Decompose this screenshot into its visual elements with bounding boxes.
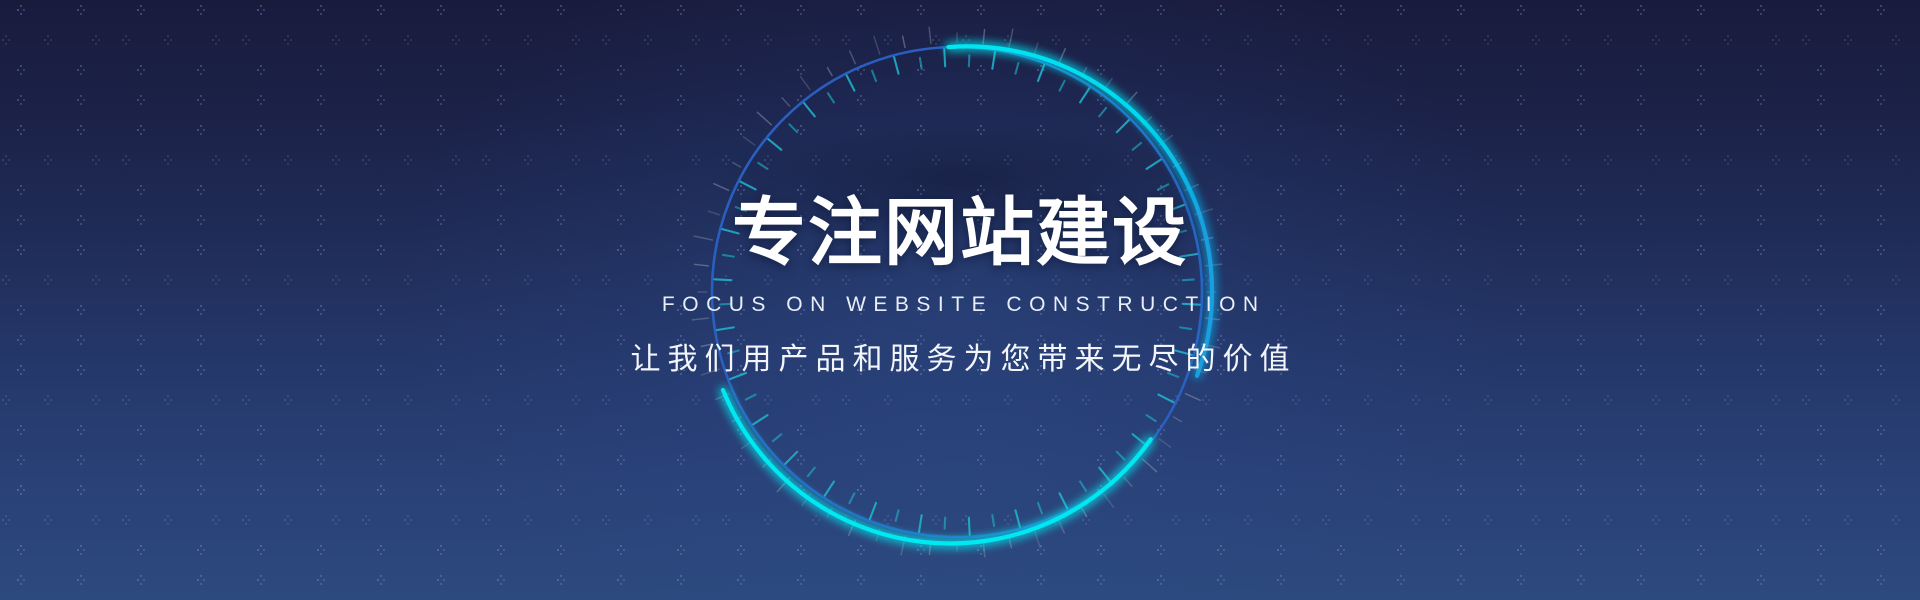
- hero-text-block: 专注网站建设 FOCUS ON WEBSITE CONSTRUCTION 让我们…: [0, 0, 1920, 600]
- subtitle-english: FOCUS ON WEBSITE CONSTRUCTION: [654, 294, 1265, 315]
- subtitle-chinese: 让我们用产品和服务为您带来无尽的价值: [624, 345, 1297, 375]
- hero-banner: 专注网站建设 FOCUS ON WEBSITE CONSTRUCTION 让我们…: [0, 0, 1920, 600]
- page-title: 专注网站建设: [732, 196, 1188, 270]
